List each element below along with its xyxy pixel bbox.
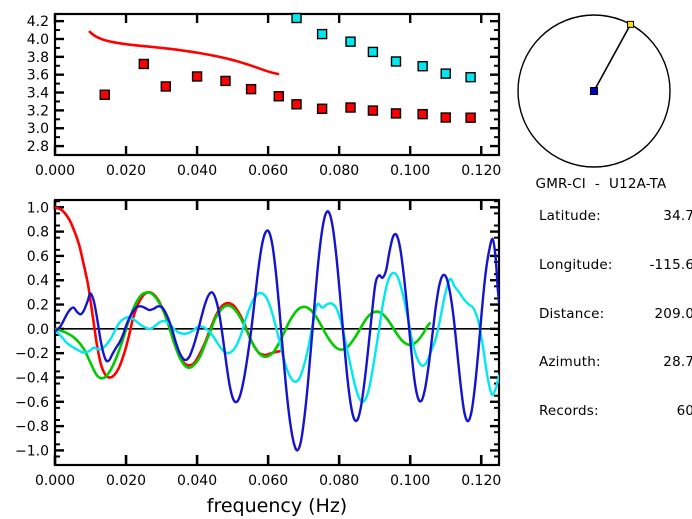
x-tick-label: 0.060	[248, 163, 288, 179]
x-tick-label: 0.100	[390, 163, 430, 179]
x-tick-label: 0.000	[35, 473, 75, 489]
plot-stage: 2.83.03.23.43.63.84.04.20.0000.0200.0400…	[0, 0, 692, 519]
records-label: Records:	[539, 403, 625, 419]
group-velocity-red-squares-marker	[346, 103, 355, 112]
y-tick-label: −0.8	[15, 419, 49, 435]
azimuth-value: 28.74	[625, 354, 692, 370]
latitude-label: Latitude:	[539, 208, 625, 224]
x-tick-label: 0.020	[106, 473, 146, 489]
info-row-longitude: Longitude:-115.66	[512, 241, 690, 290]
phase-velocity-cyan-squares-marker	[368, 47, 377, 56]
x-tick-label: 0.000	[35, 163, 75, 179]
y-tick-label: 0.2	[27, 298, 49, 314]
x-tick-label: 0.120	[461, 473, 501, 489]
station-center-dot	[591, 88, 598, 95]
group-velocity-red-squares-marker	[318, 104, 327, 113]
y-tick-label: 0.0	[27, 322, 49, 338]
phase-velocity-cyan-squares-marker	[441, 69, 450, 78]
longitude-value: -115.66	[625, 257, 692, 273]
x-tick-label: 0.020	[106, 163, 146, 179]
y-tick-label: 3.4	[27, 86, 49, 102]
group-velocity-red-squares-marker	[139, 59, 148, 68]
y-tick-label: 3.8	[27, 50, 49, 66]
y-tick-label: 1.0	[27, 200, 49, 216]
y-tick-label: 3.0	[27, 121, 49, 137]
station-pair-title: GMR-CI - U12A-TA	[512, 176, 690, 192]
phase-velocity-cyan-squares-marker	[318, 30, 327, 39]
x-tick-label: 0.080	[319, 163, 359, 179]
group-velocity-red-squares-marker	[247, 85, 256, 94]
distance-value: 209.06	[625, 306, 692, 322]
records-value: 605	[625, 403, 692, 419]
event-azimuth-dot	[628, 21, 634, 27]
latitude-value: 34.78	[625, 208, 692, 224]
azimuth-label: Azimuth:	[539, 354, 625, 370]
phase-velocity-cyan-squares-marker	[346, 37, 355, 46]
group-velocity-red-squares-marker	[221, 76, 230, 85]
group-velocity-red-squares-marker	[274, 92, 283, 101]
x-tick-label: 0.060	[248, 473, 288, 489]
y-tick-label: 2.8	[27, 139, 49, 155]
group-velocity-red-squares-marker	[441, 113, 450, 122]
group-velocity-red-squares-marker	[193, 72, 202, 81]
y-tick-label: 4.2	[27, 14, 49, 30]
y-tick-label: 4.0	[27, 32, 49, 48]
info-row-latitude: Latitude:34.78	[512, 192, 690, 241]
group-velocity-red-squares-marker	[161, 82, 170, 91]
y-tick-label: 0.6	[27, 249, 49, 265]
phase-velocity-cyan-squares-marker	[418, 62, 427, 71]
group-velocity-red-squares-marker	[466, 113, 475, 122]
y-tick-label: 0.4	[27, 273, 49, 289]
distance-label: Distance:	[539, 306, 625, 322]
group-velocity-red-squares-marker	[418, 110, 427, 119]
y-tick-label: −0.4	[15, 370, 49, 386]
group-velocity-red-squares-marker	[391, 109, 400, 118]
x-tick-label: 0.040	[177, 473, 217, 489]
x-tick-label: 0.120	[461, 163, 501, 179]
phase-velocity-cyan-squares-marker	[466, 73, 475, 82]
y-tick-label: −0.6	[15, 395, 49, 411]
info-row-distance: Distance:209.06	[512, 289, 690, 338]
group-velocity-red-squares-marker	[368, 106, 377, 115]
longitude-label: Longitude:	[539, 257, 625, 273]
x-axis-label: frequency (Hz)	[207, 495, 347, 517]
x-tick-label: 0.040	[177, 163, 217, 179]
y-tick-label: −1.0	[15, 443, 49, 459]
y-tick-label: 0.8	[27, 225, 49, 241]
group-velocity-red-squares-marker	[100, 90, 109, 99]
station-info-panel: GMR-CI - U12A-TA Latitude:34.78 Longitud…	[512, 176, 690, 435]
y-tick-label: 3.2	[27, 103, 49, 119]
info-row-azimuth: Azimuth:28.74	[512, 338, 690, 387]
x-tick-label: 0.100	[390, 473, 430, 489]
y-tick-label: 3.6	[27, 68, 49, 84]
phase-velocity-cyan-squares-marker	[391, 57, 400, 66]
x-tick-label: 0.080	[319, 473, 359, 489]
y-tick-label: −0.2	[15, 346, 49, 362]
info-row-records: Records:605	[512, 387, 690, 436]
group-velocity-red-squares-marker	[292, 100, 301, 109]
phase-velocity-cyan-squares-marker	[292, 14, 301, 23]
